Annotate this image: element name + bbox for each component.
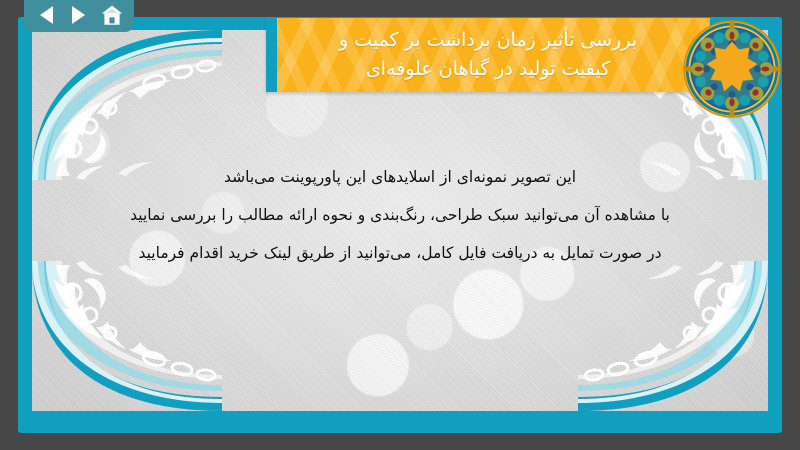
body-line-3: در صورت تمایل به دریافت فایل کامل، می‌تو… xyxy=(62,234,738,272)
slide-title-banner: بررسی تأثیر زمان برداشت بر کمیت و کیفیت … xyxy=(266,18,710,92)
floral-corner-ornament-icon xyxy=(578,261,768,411)
back-button[interactable] xyxy=(33,3,59,27)
body-line-2: با مشاهده آن می‌توانید سبک طراحی، رنگ‌بن… xyxy=(62,196,738,234)
home-icon xyxy=(101,5,123,26)
slide-body-text: این تصویر نمونه‌ای از اسلایدهای این پاور… xyxy=(62,158,738,272)
home-button[interactable] xyxy=(99,3,125,27)
slide-canvas: این تصویر نمونه‌ای از اسلایدهای این پاور… xyxy=(0,0,800,450)
triangle-right-icon xyxy=(72,6,85,24)
triangle-left-icon xyxy=(40,6,53,24)
mandala-medallion-icon xyxy=(683,20,781,118)
floral-corner-ornament-icon xyxy=(32,261,222,411)
body-line-1: این تصویر نمونه‌ای از اسلایدهای این پاور… xyxy=(62,158,738,196)
page-title-line-1: بررسی تأثیر زمان برداشت بر کمیت و xyxy=(339,26,637,55)
navigation-bar[interactable] xyxy=(24,0,134,32)
forward-button[interactable] xyxy=(66,3,92,27)
page-title-line-2: کیفیت تولید در گیاهان علوفه‌ای xyxy=(366,55,610,84)
